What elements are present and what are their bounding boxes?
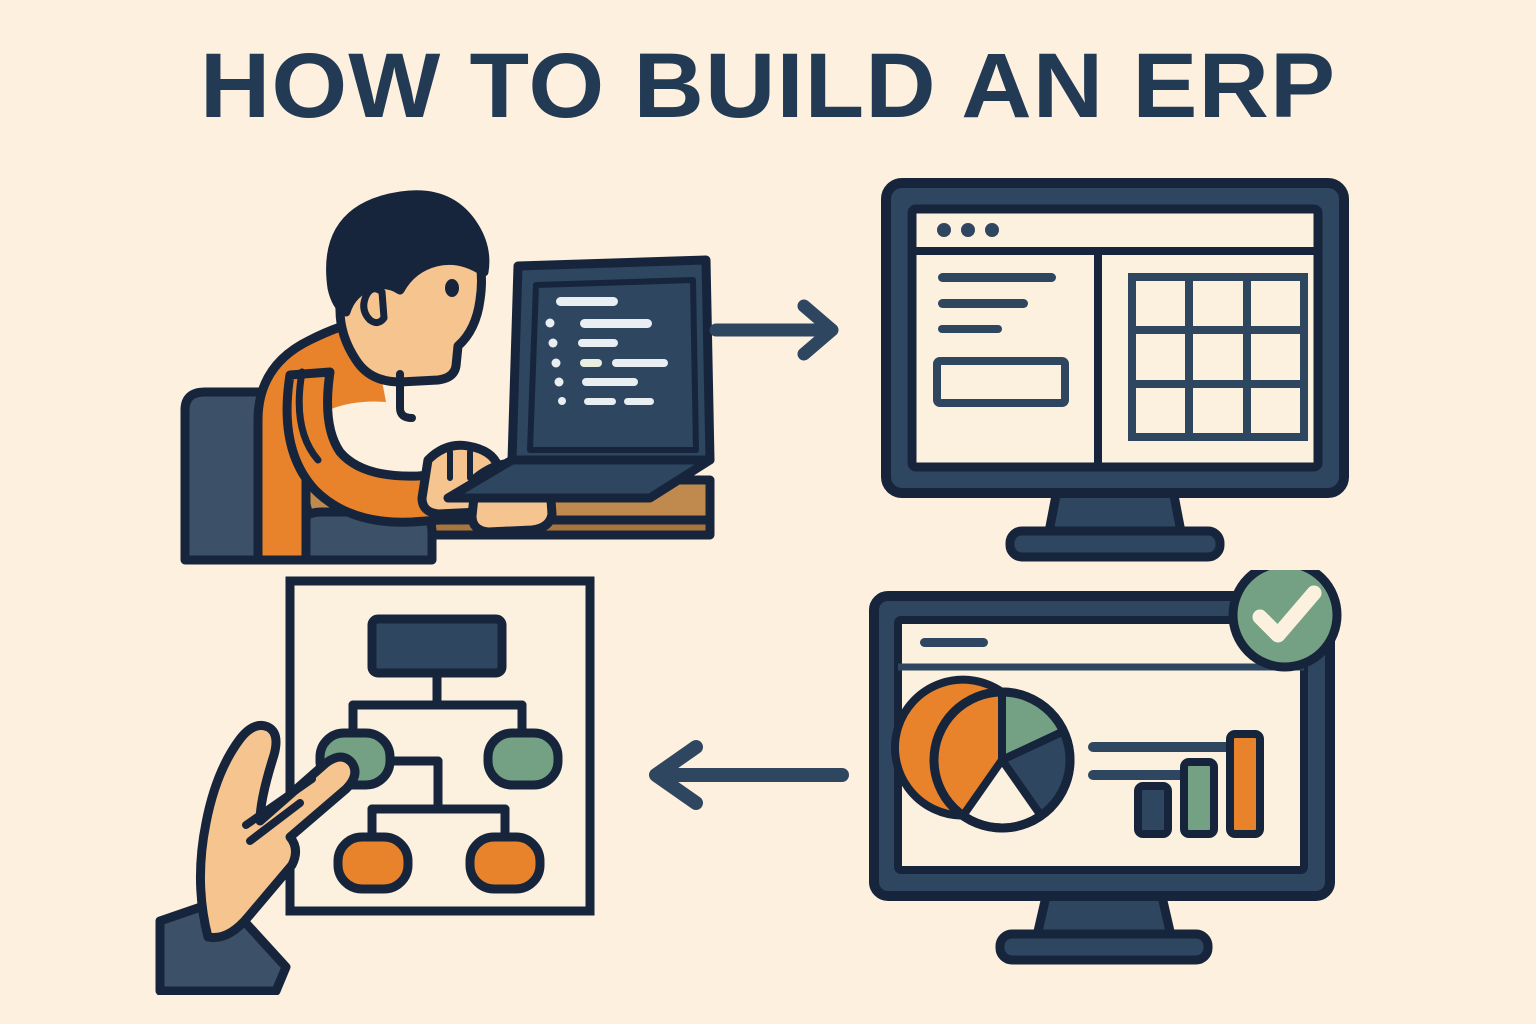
sidebar-text-line-3 [938, 325, 1002, 333]
bar-3-orange [1230, 734, 1260, 834]
form-input-field[interactable] [937, 361, 1065, 403]
dashboard-header-title-line [920, 638, 988, 647]
person-eye [445, 279, 459, 297]
sidebar-text-line-2 [938, 299, 1028, 308]
bar-1-navy [1138, 786, 1168, 834]
bar-2-green [1184, 762, 1214, 834]
window-dot-1[interactable] [937, 223, 951, 237]
flowchart-node-green-right[interactable] [488, 733, 558, 785]
pie-chart [895, 680, 1070, 828]
illustration-analytics-dashboard-monitor [860, 570, 1380, 990]
arrow-develop-to-interface-icon [700, 290, 860, 370]
window-dot-3[interactable] [985, 223, 999, 237]
infographic-canvas: HOW TO BUILD AN ERP [0, 0, 1536, 1024]
sidebar-text-line-1 [938, 273, 1056, 282]
flowchart-node-orange-right[interactable] [470, 837, 540, 889]
flowchart-root-node[interactable] [372, 619, 502, 673]
illustration-developer-coding [150, 160, 750, 590]
arrow-analytics-to-architecture-icon [630, 725, 860, 825]
dashboard-text-line-2 [1088, 770, 1194, 780]
flowchart-node-orange-left[interactable] [338, 837, 408, 889]
illustration-architecture-flowchart [150, 565, 620, 995]
page-title: HOW TO BUILD AN ERP [0, 38, 1536, 134]
check-badge [1233, 570, 1337, 667]
illustration-erp-interface-monitor [860, 165, 1370, 575]
window-dot-2[interactable] [961, 223, 975, 237]
